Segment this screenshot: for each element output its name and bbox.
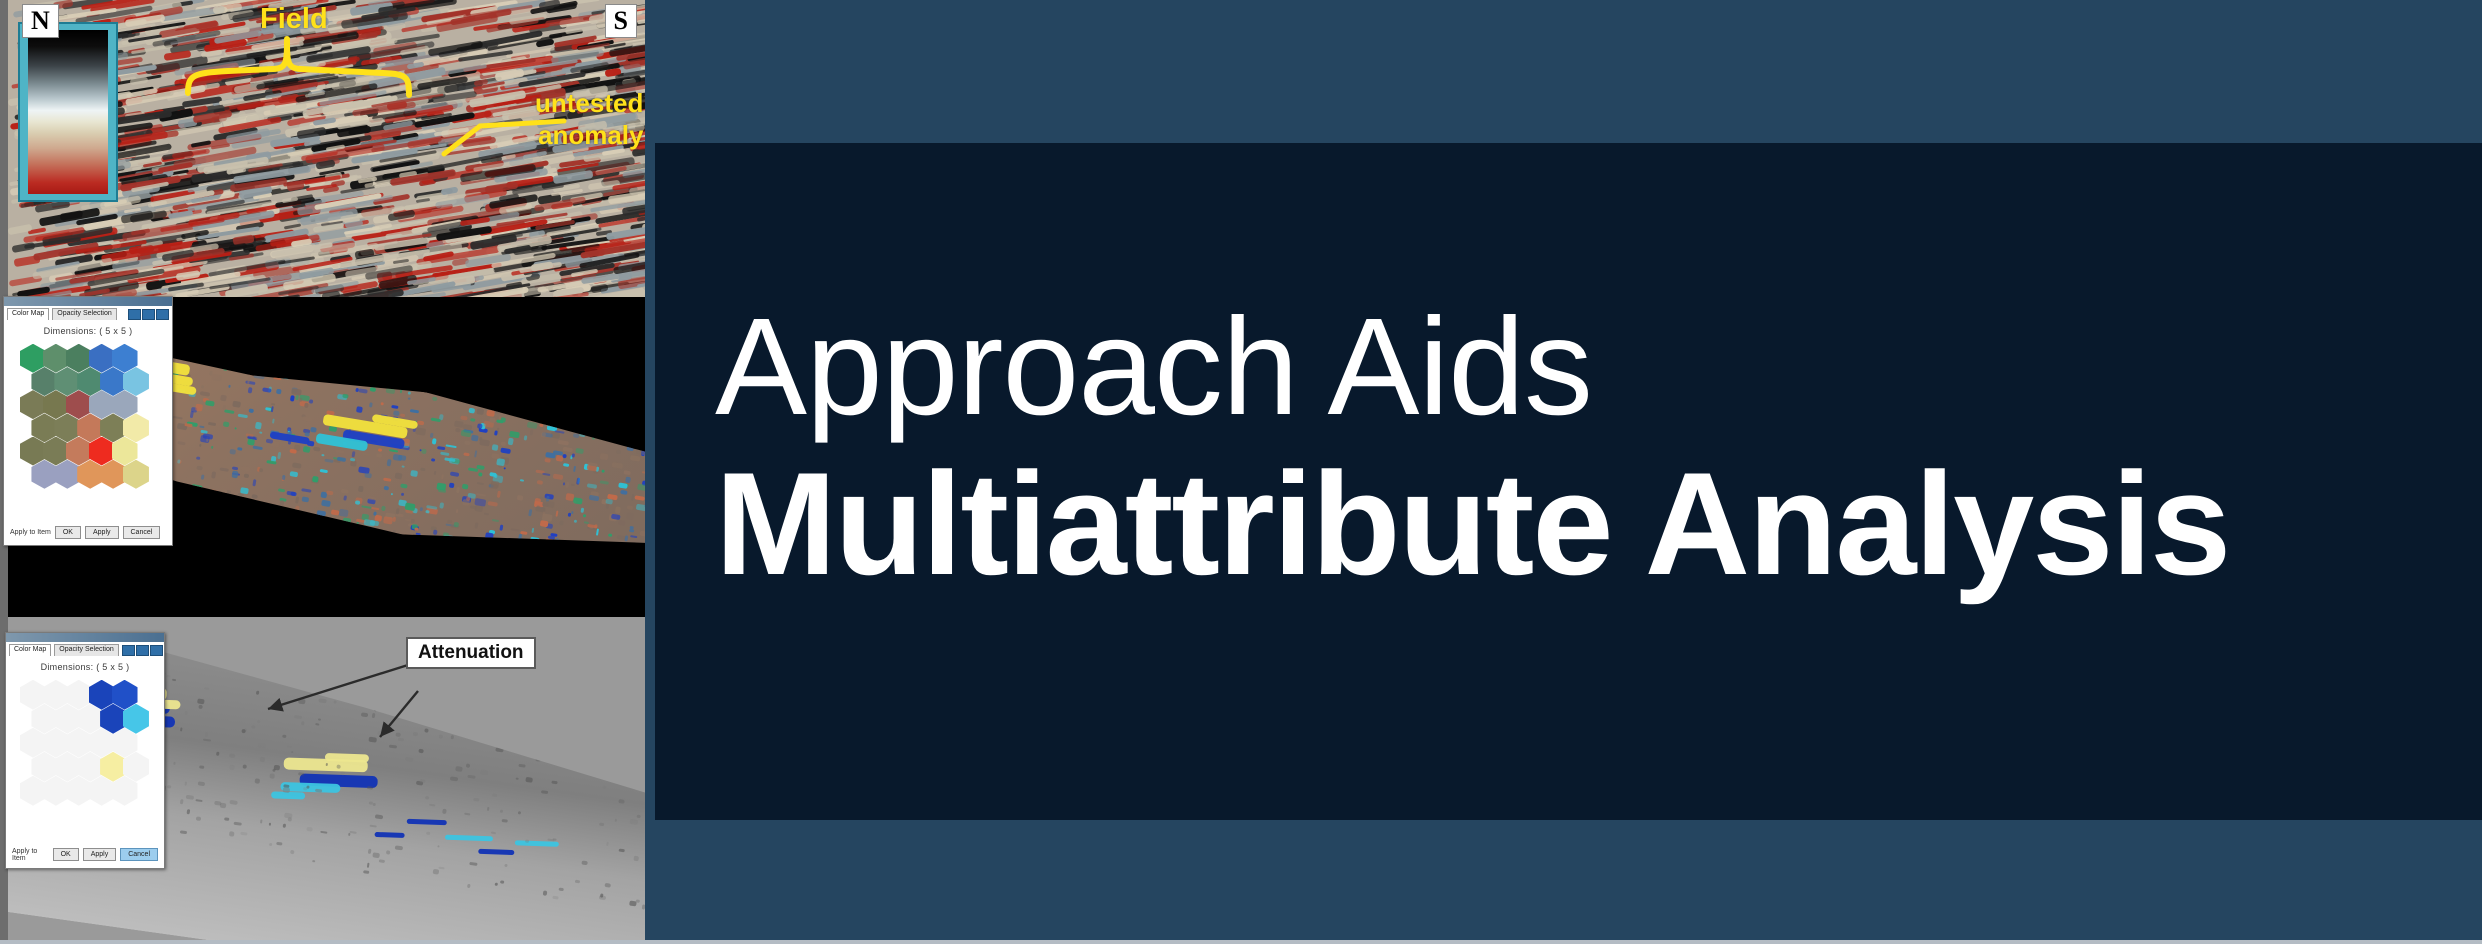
ok-button[interactable]: OK bbox=[55, 526, 81, 539]
field-bracket-icon bbox=[183, 25, 443, 105]
tab-opacity-selection[interactable]: Opacity Selection bbox=[52, 308, 116, 320]
slide-root: Approach Aids Multiattribute Analysis N … bbox=[0, 0, 2482, 944]
annotation-untested-line1: untested bbox=[535, 88, 643, 119]
direction-label-south: S bbox=[605, 4, 637, 38]
dialog-footer[interactable]: Apply to Item OK Apply Cancel bbox=[4, 520, 172, 545]
window-controls[interactable] bbox=[128, 309, 169, 320]
colormap-hex-grid[interactable] bbox=[14, 676, 156, 842]
apply-button[interactable]: Apply bbox=[83, 848, 117, 861]
dialog-dimensions-label: Dimensions: ( 5 x 5 ) bbox=[6, 656, 164, 676]
dialog-titlebar[interactable] bbox=[6, 633, 164, 642]
bottom-border bbox=[0, 940, 2482, 944]
cancel-button[interactable]: Cancel bbox=[123, 526, 161, 539]
apply-to-item-label: Apply to Item bbox=[12, 848, 49, 862]
seismic-amplitude-colorbar bbox=[18, 22, 118, 202]
close-icon[interactable] bbox=[156, 309, 169, 320]
dialog-footer[interactable]: Apply to Item OK Apply Cancel bbox=[6, 842, 164, 868]
title-block: Approach Aids Multiattribute Analysis bbox=[715, 298, 2415, 606]
figure-column: N S Field untested anomaly bbox=[0, 0, 645, 944]
direction-label-north: N bbox=[22, 4, 59, 38]
ok-button[interactable]: OK bbox=[53, 848, 79, 861]
dialog-tabstrip[interactable]: Color Map Opacity Selection bbox=[6, 642, 164, 656]
dialog-dimensions-label: Dimensions: ( 5 x 5 ) bbox=[4, 320, 172, 340]
annotation-field-label: Field bbox=[260, 3, 328, 36]
maximize-icon[interactable] bbox=[142, 309, 155, 320]
dialog-tabstrip[interactable]: Color Map Opacity Selection bbox=[4, 306, 172, 320]
annotation-anomaly-line2: anomaly bbox=[538, 120, 644, 151]
attenuation-arrows-icon bbox=[118, 629, 448, 769]
dialog-titlebar[interactable] bbox=[4, 297, 172, 306]
attenuation-callout-label: Attenuation bbox=[406, 637, 536, 669]
colorbar-gradient bbox=[28, 30, 108, 194]
tab-opacity-selection[interactable]: Opacity Selection bbox=[54, 644, 118, 656]
colormap-hex-grid[interactable] bbox=[14, 340, 162, 520]
window-controls[interactable] bbox=[122, 645, 163, 656]
apply-to-item-label: Apply to Item bbox=[10, 529, 51, 536]
minimize-icon[interactable] bbox=[122, 645, 135, 656]
colormap-dialog-top[interactable]: Color Map Opacity Selection Dimensions: … bbox=[3, 296, 173, 546]
maximize-icon[interactable] bbox=[136, 645, 149, 656]
page-title-line-2: Multiattribute Analysis bbox=[715, 442, 2415, 606]
tab-color-map[interactable]: Color Map bbox=[9, 644, 51, 656]
seismic-section-panel: N S Field untested anomaly bbox=[8, 0, 645, 297]
minimize-icon[interactable] bbox=[128, 309, 141, 320]
tab-color-map[interactable]: Color Map bbox=[7, 308, 49, 320]
apply-button[interactable]: Apply bbox=[85, 526, 119, 539]
colormap-dialog-bottom[interactable]: Color Map Opacity Selection Dimensions: … bbox=[5, 632, 165, 869]
page-title-line-1: Approach Aids bbox=[715, 298, 2415, 436]
close-icon[interactable] bbox=[150, 645, 163, 656]
cancel-button[interactable]: Cancel bbox=[120, 848, 158, 861]
